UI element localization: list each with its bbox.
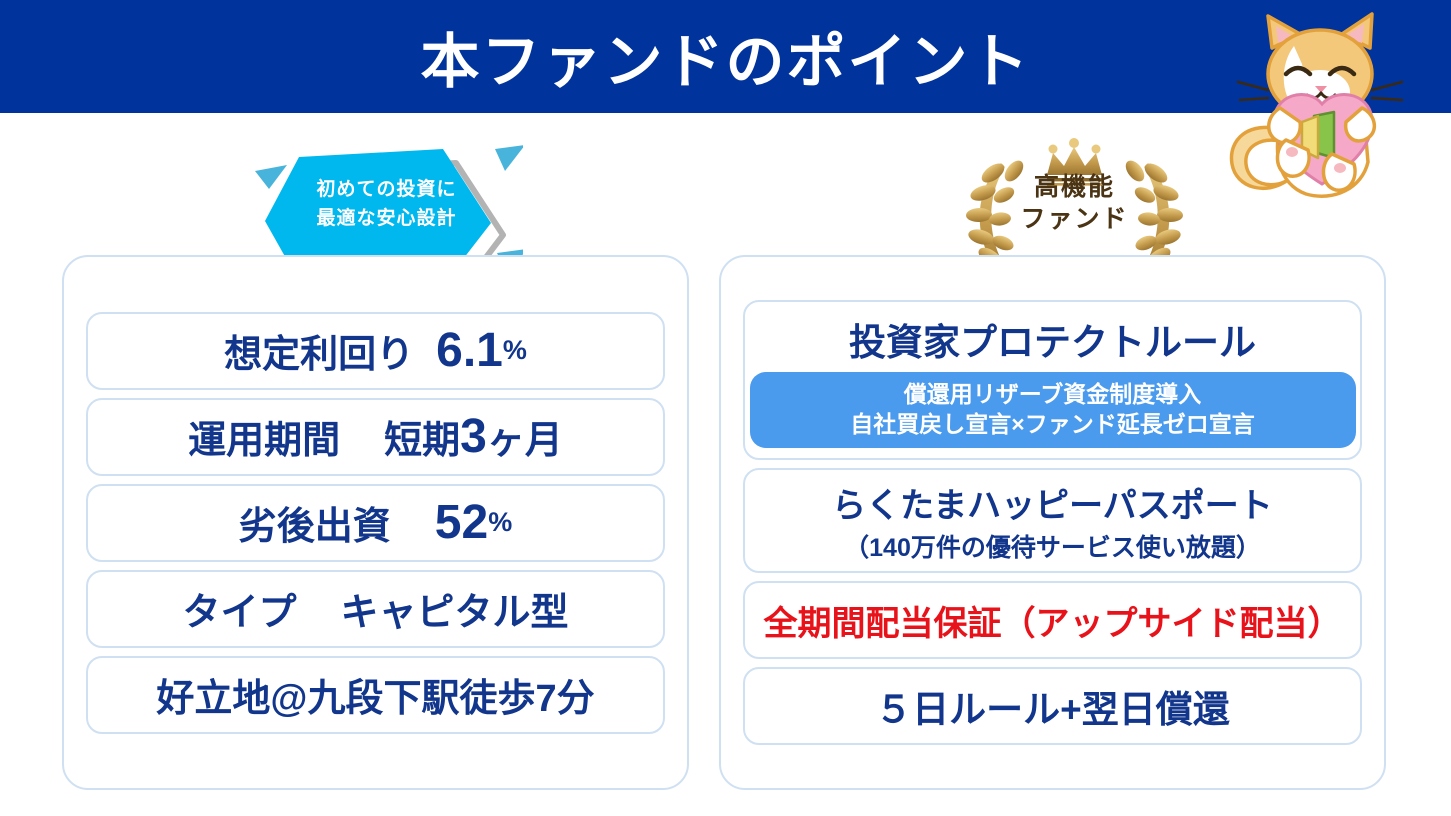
right-feature-card: 投資家プロテクトルール 償還用リザーブ資金制度導入 自社買戻し宣言×ファンド延長… <box>719 255 1386 790</box>
row-label: 想定利回り <box>224 323 414 378</box>
banner-line-2: 自社買戻し宣言×ファンド延長ゼロ宣言 <box>760 409 1346 439</box>
row-value: 52 <box>435 495 488 550</box>
badge-line-2: ファンド <box>957 203 1192 235</box>
passport-line-2: （140万件の優待サービス使い放題） <box>844 528 1261 564</box>
passport-line-1: らくたまハッピーパスポート <box>832 478 1273 527</box>
row-value-prefix: 短期 <box>384 409 460 464</box>
badge-line-1: 高機能 <box>957 171 1192 203</box>
banner-line-1: 償還用リザーブ資金制度導入 <box>760 379 1346 409</box>
bubble-line-2: 最適な安心設計 <box>299 204 474 233</box>
row-type: タイプ キャピタル型 <box>86 570 665 648</box>
row-value: キャピタル型 <box>341 581 569 636</box>
bubble-line-1: 初めての投資に <box>299 175 474 204</box>
row-happy-passport: らくたまハッピーパスポート （140万件の優待サービス使い放題） <box>743 468 1362 573</box>
fund-points-infographic: 本ファンドのポイント <box>0 0 1451 816</box>
row-label: 劣後出資 <box>239 495 391 550</box>
right-card-rows: 投資家プロテクトルール 償還用リザーブ資金制度導入 自社買戻し宣言×ファンド延長… <box>721 257 1384 788</box>
row-subordinated-investment: 劣後出資 52 % <box>86 484 665 562</box>
row-unit: ヶ月 <box>487 409 563 464</box>
row-label: 運用期間 <box>188 409 340 464</box>
row-value: 6.1 <box>436 323 503 378</box>
protect-rule-title: 投資家プロテクトルール <box>849 312 1256 366</box>
row-dividend-guarantee: 全期間配当保証（アップサイド配当） <box>743 581 1362 659</box>
bubble-text: 初めての投資に 最適な安心設計 <box>299 175 474 234</box>
row-value: 3 <box>460 409 487 464</box>
row-text: 好立地@九段下駅徒歩7分 <box>156 667 594 722</box>
row-investor-protect-rule: 投資家プロテクトルール 償還用リザーブ資金制度導入 自社買戻し宣言×ファンド延長… <box>743 300 1362 460</box>
cat-mascot-icon <box>1222 12 1422 217</box>
left-feature-card: 想定利回り 6.1 % 運用期間 短期 3 ヶ月 劣後出資 52 % タイプ <box>62 255 689 790</box>
deco-triangle-icon <box>495 145 523 171</box>
row-five-day-rule: ５日ルール+翌日償還 <box>743 667 1362 745</box>
row-expected-yield: 想定利回り 6.1 % <box>86 312 665 390</box>
row-unit: % <box>503 335 527 366</box>
row-label: タイプ <box>182 581 296 636</box>
deco-triangle-icon <box>255 165 287 189</box>
protect-rule-banner: 償還用リザーブ資金制度導入 自社買戻し宣言×ファンド延長ゼロ宣言 <box>750 372 1356 449</box>
badge-text: 高機能 ファンド <box>957 171 1192 235</box>
dividend-guarantee-text: 全期間配当保証（アップサイド配当） <box>764 596 1342 645</box>
row-operation-period: 運用期間 短期 3 ヶ月 <box>86 398 665 476</box>
row-unit: % <box>488 507 512 538</box>
row-location: 好立地@九段下駅徒歩7分 <box>86 656 665 734</box>
five-day-rule-text: ５日ルール+翌日償還 <box>875 679 1230 733</box>
left-card-rows: 想定利回り 6.1 % 運用期間 短期 3 ヶ月 劣後出資 52 % タイプ <box>64 257 687 788</box>
